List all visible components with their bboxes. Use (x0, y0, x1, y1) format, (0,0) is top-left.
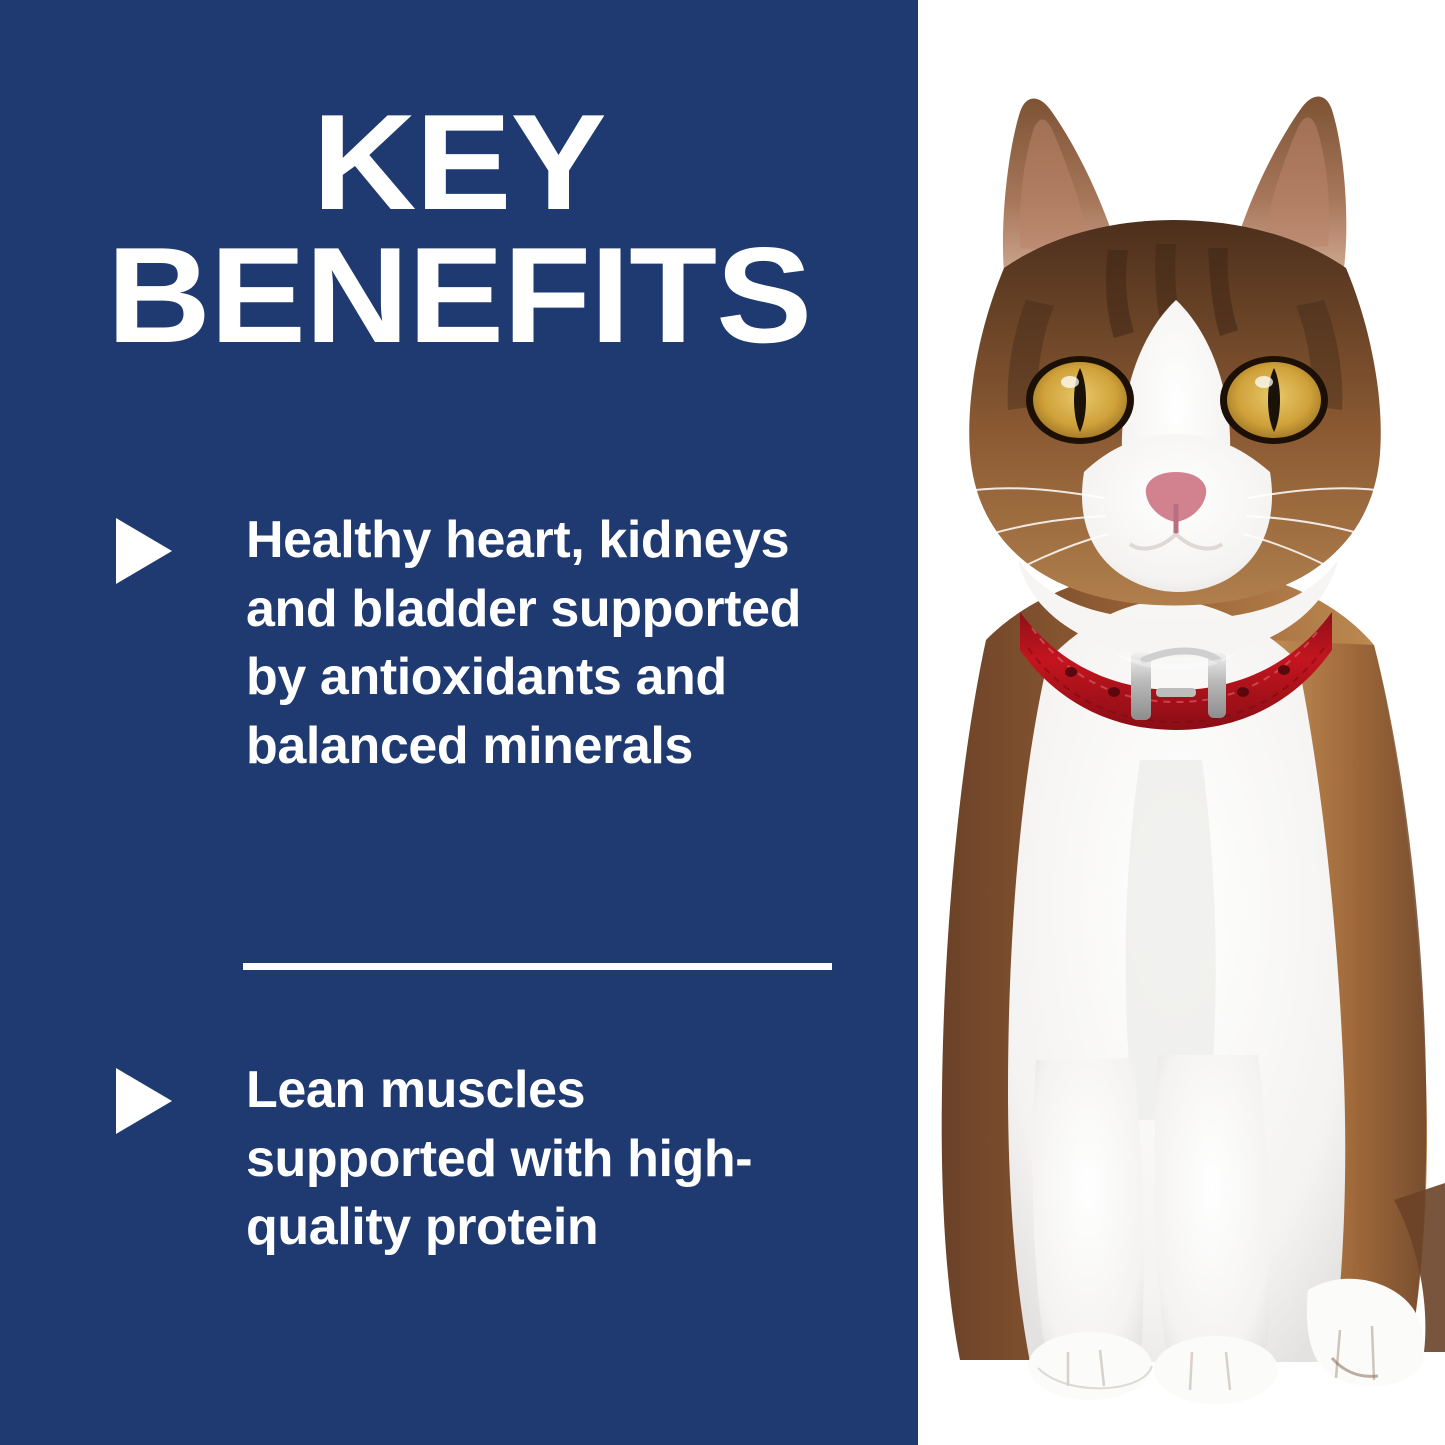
cat-front-leg-right (1155, 1055, 1270, 1384)
triangle-right-icon (116, 1068, 172, 1134)
page-title: KEY BENEFITS (0, 96, 946, 363)
cat-photo (918, 0, 1445, 1445)
cat-illustration (918, 0, 1445, 1445)
benefit-item-2-text: Lean muscles supported with high-quality… (246, 1056, 846, 1262)
benefits-panel-background: KEY BENEFITS Healthy heart, kidneys and … (0, 0, 918, 1445)
cat-paw-right (1154, 1336, 1278, 1404)
cat-paw-left (1028, 1332, 1152, 1400)
benefit-item-1-text: Healthy heart, kidneys and bladder suppo… (246, 506, 846, 781)
page-title-line-2: BENEFITS (0, 229, 946, 362)
cat-eye-right-highlight (1255, 376, 1273, 388)
triangle-right-icon (116, 518, 172, 584)
cat-eye-left-highlight (1061, 376, 1079, 388)
benefit-item-1: Healthy heart, kidneys and bladder suppo… (116, 506, 876, 781)
section-divider (243, 963, 832, 970)
cat-front-leg-left (1033, 1058, 1144, 1380)
page-title-line-1: KEY (0, 96, 946, 229)
benefit-item-2: Lean muscles supported with high-quality… (116, 1056, 876, 1262)
key-benefits-panel: KEY BENEFITS Healthy heart, kidneys and … (0, 0, 1445, 1445)
